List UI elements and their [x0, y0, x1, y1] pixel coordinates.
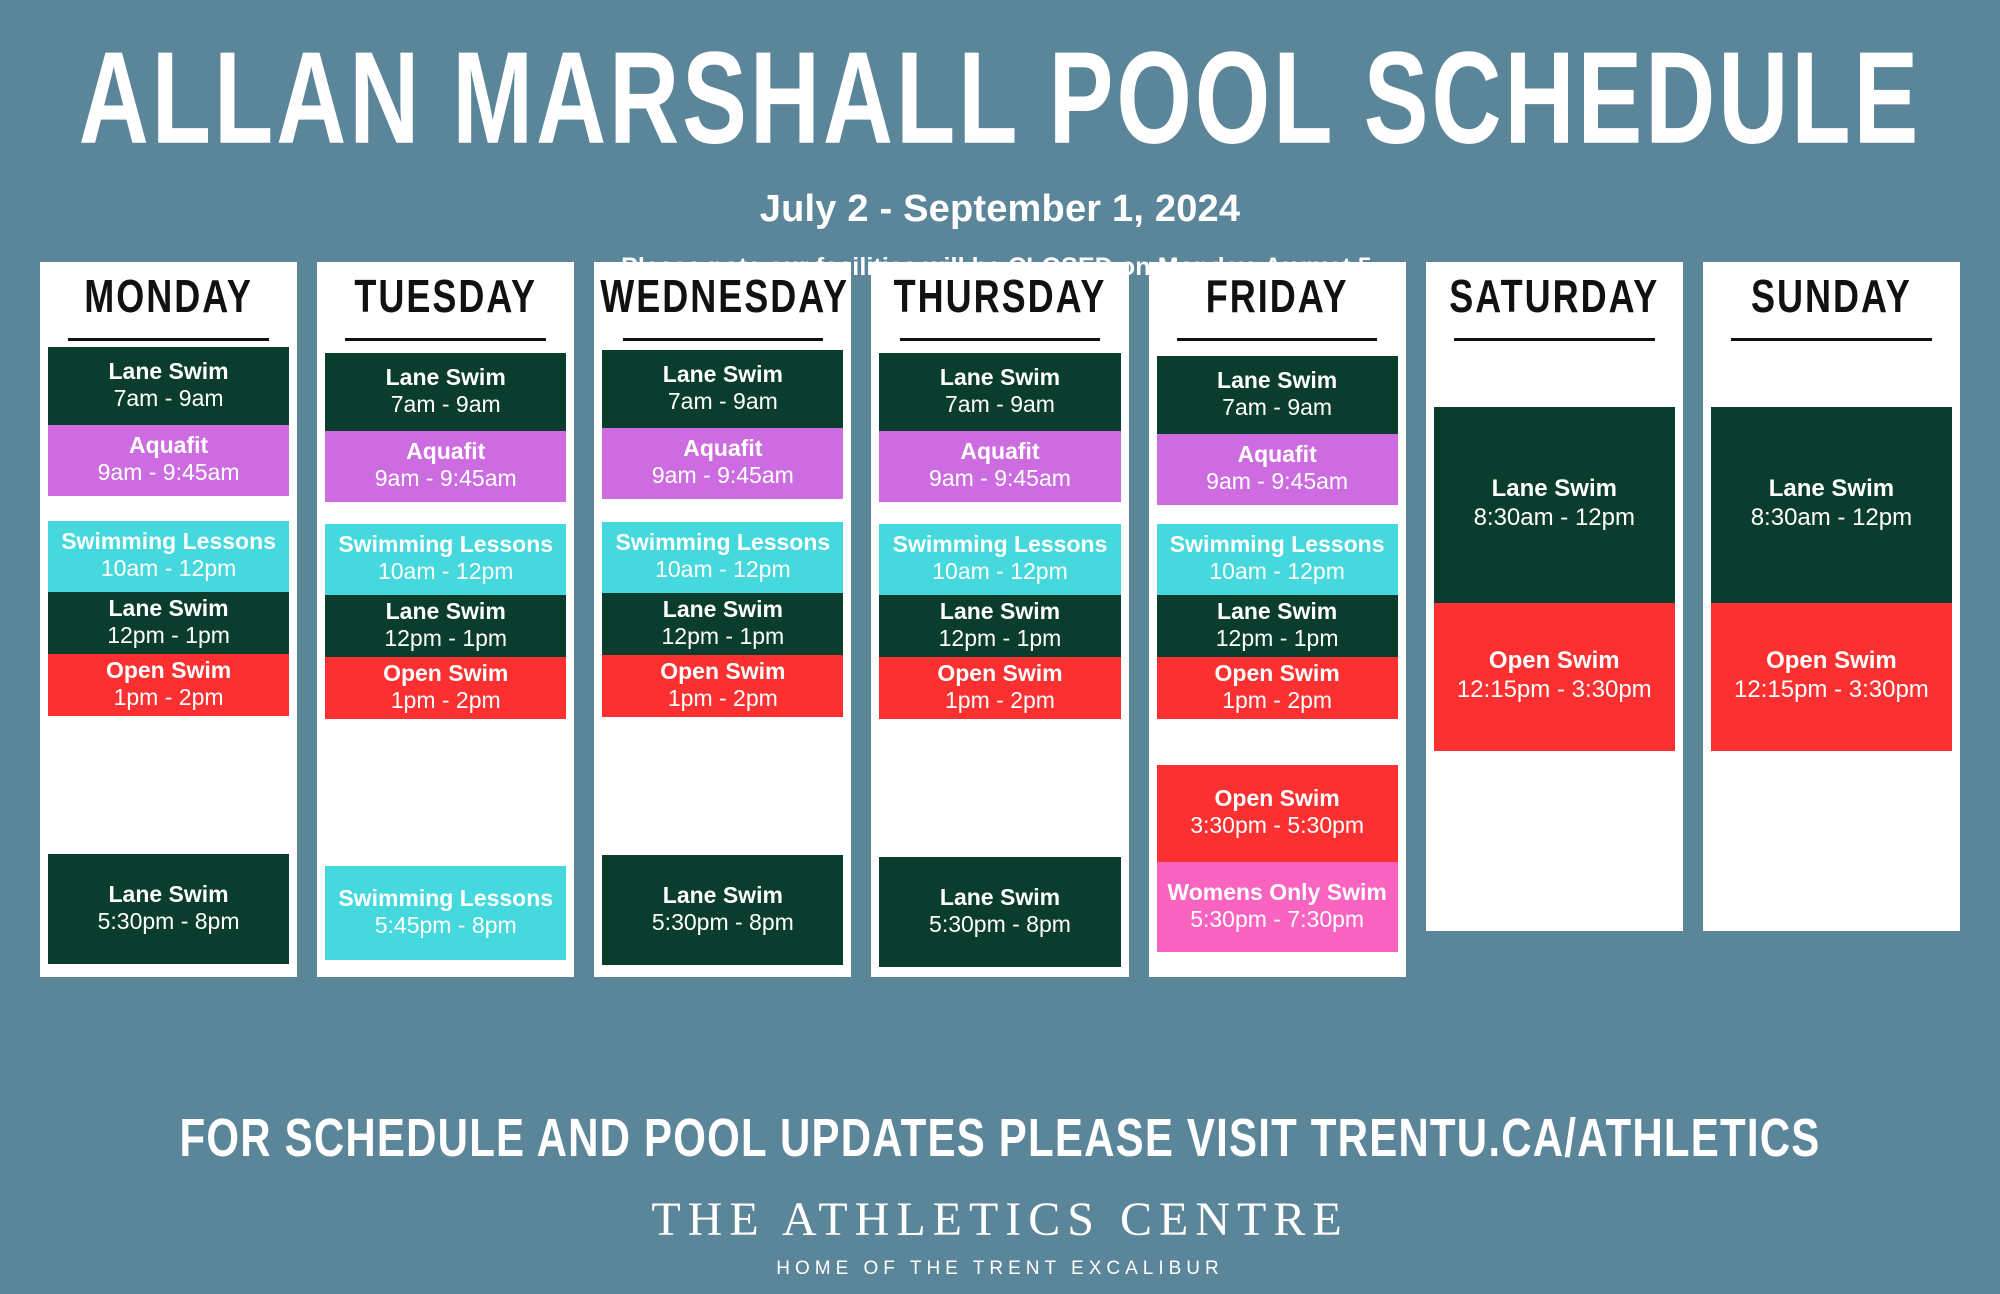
schedule-slot-lane_swim[interactable]: Lane Swim12pm - 1pm — [325, 595, 566, 657]
schedule-slot-lane_swim[interactable]: Lane Swim7am - 9am — [1157, 356, 1398, 434]
slot-time-label: 7am - 9am — [391, 391, 501, 419]
schedule-slot-lane_swim[interactable]: Lane Swim5:30pm - 8pm — [879, 857, 1120, 967]
slot-spacer — [48, 496, 289, 521]
slot-time-label: 9am - 9:45am — [1206, 468, 1348, 496]
footer-tagline: HOME OF THE TRENT EXCALIBUR — [0, 1258, 2000, 1280]
day-name-label: SATURDAY — [1443, 269, 1665, 329]
slot-time-label: 5:30pm - 8pm — [929, 911, 1071, 939]
schedule-slot-aquafit[interactable]: Aquafit9am - 9:45am — [602, 428, 843, 499]
slot-time-label: 12pm - 1pm — [661, 623, 784, 651]
day-column-sunday: SUNDAYLane Swim8:30am - 12pmOpen Swim12:… — [1703, 262, 1960, 931]
day-slot-list: Lane Swim7am - 9amAquafit9am - 9:45amSwi… — [594, 347, 851, 975]
schedule-slot-swimming_lessons[interactable]: Swimming Lessons10am - 12pm — [602, 522, 843, 593]
slot-activity-label: Aquafit — [683, 435, 762, 462]
slot-time-label: 12pm - 1pm — [1216, 625, 1339, 653]
schedule-slot-open_swim[interactable]: Open Swim3:30pm - 5:30pm — [1157, 765, 1398, 862]
slot-time-label: 7am - 9am — [668, 388, 778, 416]
slot-activity-label: Lane Swim — [1769, 475, 1894, 503]
slot-activity-label: Open Swim — [1766, 647, 1897, 675]
schedule-slot-lane_swim[interactable]: Lane Swim12pm - 1pm — [1157, 595, 1398, 657]
day-name-label: TUESDAY — [348, 269, 543, 329]
schedule-slot-open_swim[interactable]: Open Swim12:15pm - 3:30pm — [1711, 603, 1952, 751]
day-name-underline — [345, 338, 546, 341]
slot-activity-label: Open Swim — [660, 658, 785, 685]
slot-activity-label: Aquafit — [1238, 441, 1317, 468]
slot-activity-label: Swimming Lessons — [1170, 531, 1385, 558]
slot-activity-label: Lane Swim — [386, 364, 506, 391]
schedule-grid: MONDAYLane Swim7am - 9amAquafit9am - 9:4… — [40, 262, 1960, 977]
poster-header: ALLAN MARSHALL POOL SCHEDULE July 2 - Se… — [0, 0, 2000, 282]
schedule-slot-swimming_lessons[interactable]: Swimming Lessons5:45pm - 8pm — [325, 866, 566, 960]
slot-activity-label: Open Swim — [1215, 785, 1340, 812]
slot-spacer — [879, 502, 1120, 524]
day-name-label: THURSDAY — [888, 269, 1113, 329]
day-name-label: MONDAY — [78, 269, 259, 329]
slot-time-label: 7am - 9am — [114, 385, 224, 413]
slot-time-label: 9am - 9:45am — [929, 465, 1071, 493]
slot-activity-label: Lane Swim — [108, 595, 228, 622]
day-slot-list: Lane Swim7am - 9amAquafit9am - 9:45amSwi… — [1149, 347, 1406, 962]
slot-activity-label: Open Swim — [1489, 647, 1620, 675]
slot-time-label: 1pm - 2pm — [391, 687, 501, 715]
day-name-underline — [900, 338, 1101, 341]
schedule-slot-lane_swim[interactable]: Lane Swim12pm - 1pm — [879, 595, 1120, 657]
slot-time-label: 12:15pm - 3:30pm — [1457, 676, 1652, 705]
schedule-slot-lane_swim[interactable]: Lane Swim5:30pm - 8pm — [48, 854, 289, 964]
day-header: TUESDAY — [317, 262, 574, 347]
date-range: July 2 - September 1, 2024 — [0, 188, 2000, 231]
slot-time-label: 12pm - 1pm — [939, 625, 1062, 653]
slot-time-label: 8:30am - 12pm — [1474, 504, 1635, 533]
schedule-slot-swimming_lessons[interactable]: Swimming Lessons10am - 12pm — [879, 524, 1120, 595]
schedule-slot-lane_swim[interactable]: Lane Swim7am - 9am — [325, 353, 566, 431]
slot-spacer — [1711, 347, 1952, 407]
day-name-underline — [1731, 338, 1932, 341]
slot-spacer — [602, 717, 843, 855]
slot-activity-label: Lane Swim — [663, 596, 783, 623]
slot-spacer — [325, 719, 566, 866]
slot-time-label: 12pm - 1pm — [107, 622, 230, 650]
slot-activity-label: Open Swim — [1215, 660, 1340, 687]
slot-activity-label: Aquafit — [129, 432, 208, 459]
slot-activity-label: Open Swim — [106, 657, 231, 684]
slot-activity-label: Womens Only Swim — [1167, 879, 1386, 906]
slot-spacer — [1434, 347, 1675, 407]
slot-time-label: 7am - 9am — [1222, 394, 1332, 422]
slot-time-label: 1pm - 2pm — [668, 685, 778, 713]
slot-activity-label: Aquafit — [406, 438, 485, 465]
slot-time-label: 9am - 9:45am — [98, 459, 240, 487]
slot-time-label: 10am - 12pm — [655, 556, 791, 584]
slot-time-label: 12pm - 1pm — [384, 625, 507, 653]
slot-time-label: 5:30pm - 8pm — [98, 908, 240, 936]
day-column-wednesday: WEDNESDAYLane Swim7am - 9amAquafit9am - … — [594, 262, 851, 977]
slot-spacer — [1157, 347, 1398, 356]
slot-spacer — [602, 499, 843, 522]
slot-spacer — [1157, 505, 1398, 524]
schedule-slot-open_swim[interactable]: Open Swim12:15pm - 3:30pm — [1434, 603, 1675, 751]
day-column-saturday: SATURDAYLane Swim8:30am - 12pmOpen Swim1… — [1426, 262, 1683, 931]
schedule-slot-lane_swim[interactable]: Lane Swim12pm - 1pm — [48, 592, 289, 654]
schedule-slot-aquafit[interactable]: Aquafit9am - 9:45am — [325, 431, 566, 502]
day-slot-list: Lane Swim7am - 9amAquafit9am - 9:45amSwi… — [871, 347, 1128, 977]
day-column-friday: FRIDAYLane Swim7am - 9amAquafit9am - 9:4… — [1149, 262, 1406, 977]
slot-time-label: 3:30pm - 5:30pm — [1190, 812, 1364, 840]
day-slot-list: Lane Swim7am - 9amAquafit9am - 9:45amSwi… — [40, 347, 297, 974]
slot-spacer — [1157, 719, 1398, 765]
slot-activity-label: Swimming Lessons — [893, 531, 1108, 558]
slot-activity-label: Swimming Lessons — [338, 885, 553, 912]
slot-activity-label: Lane Swim — [108, 358, 228, 385]
slot-activity-label: Lane Swim — [1217, 598, 1337, 625]
day-column-thursday: THURSDAYLane Swim7am - 9amAquafit9am - 9… — [871, 262, 1128, 977]
slot-spacer — [48, 716, 289, 854]
slot-time-label: 5:30pm - 7:30pm — [1190, 906, 1364, 934]
slot-activity-label: Open Swim — [383, 660, 508, 687]
day-header: WEDNESDAY — [594, 262, 851, 347]
schedule-slot-swimming_lessons[interactable]: Swimming Lessons10am - 12pm — [48, 521, 289, 592]
day-column-monday: MONDAYLane Swim7am - 9amAquafit9am - 9:4… — [40, 262, 297, 977]
slot-activity-label: Lane Swim — [663, 882, 783, 909]
day-slot-list: Lane Swim7am - 9amAquafit9am - 9:45amSwi… — [317, 347, 574, 970]
schedule-slot-aquafit[interactable]: Aquafit9am - 9:45am — [48, 425, 289, 496]
day-name-label: WEDNESDAY — [594, 269, 855, 329]
slot-activity-label: Swimming Lessons — [61, 528, 276, 555]
pool-schedule-poster: ALLAN MARSHALL POOL SCHEDULE July 2 - Se… — [0, 0, 2000, 1294]
slot-spacer — [879, 719, 1120, 857]
schedule-slot-lane_swim[interactable]: Lane Swim8:30am - 12pm — [1711, 407, 1952, 603]
slot-time-label: 10am - 12pm — [378, 558, 514, 586]
day-slot-list: Lane Swim8:30am - 12pmOpen Swim12:15pm -… — [1703, 347, 1960, 761]
day-slot-list: Lane Swim8:30am - 12pmOpen Swim12:15pm -… — [1426, 347, 1683, 761]
slot-activity-label: Lane Swim — [940, 598, 1060, 625]
slot-activity-label: Lane Swim — [940, 364, 1060, 391]
slot-activity-label: Aquafit — [960, 438, 1039, 465]
slot-spacer — [325, 502, 566, 524]
day-name-underline — [1177, 338, 1378, 341]
day-header: FRIDAY — [1149, 262, 1406, 347]
schedule-slot-lane_swim[interactable]: Lane Swim7am - 9am — [879, 353, 1120, 431]
schedule-slot-lane_swim[interactable]: Lane Swim7am - 9am — [48, 347, 289, 425]
slot-time-label: 1pm - 2pm — [114, 684, 224, 712]
day-header: MONDAY — [40, 262, 297, 347]
poster-footer: FOR SCHEDULE AND POOL UPDATES PLEASE VIS… — [0, 1114, 2000, 1280]
slot-time-label: 5:30pm - 8pm — [652, 909, 794, 937]
slot-activity-label: Lane Swim — [663, 361, 783, 388]
schedule-slot-lane_swim[interactable]: Lane Swim5:30pm - 8pm — [602, 855, 843, 965]
schedule-slot-lane_swim[interactable]: Lane Swim8:30am - 12pm — [1434, 407, 1675, 603]
slot-time-label: 9am - 9:45am — [375, 465, 517, 493]
schedule-slot-open_swim[interactable]: Open Swim1pm - 2pm — [325, 657, 566, 719]
schedule-slot-open_swim[interactable]: Open Swim1pm - 2pm — [1157, 657, 1398, 719]
slot-activity-label: Lane Swim — [386, 598, 506, 625]
schedule-slot-swimming_lessons[interactable]: Swimming Lessons10am - 12pm — [325, 524, 566, 595]
slot-time-label: 1pm - 2pm — [945, 687, 1055, 715]
page-title: ALLAN MARSHALL POOL SCHEDULE — [0, 32, 2000, 166]
day-name-label: SUNDAY — [1745, 269, 1918, 329]
slot-time-label: 10am - 12pm — [101, 555, 237, 583]
schedule-slot-lane_swim[interactable]: Lane Swim7am - 9am — [602, 350, 843, 428]
schedule-slot-aquafit[interactable]: Aquafit9am - 9:45am — [1157, 434, 1398, 505]
day-name-underline — [623, 338, 824, 341]
day-column-tuesday: TUESDAYLane Swim7am - 9amAquafit9am - 9:… — [317, 262, 574, 977]
schedule-slot-aquafit[interactable]: Aquafit9am - 9:45am — [879, 431, 1120, 502]
slot-time-label: 12:15pm - 3:30pm — [1734, 676, 1929, 705]
slot-time-label: 10am - 12pm — [1209, 558, 1345, 586]
slot-time-label: 1pm - 2pm — [1222, 687, 1332, 715]
slot-time-label: 5:45pm - 8pm — [375, 912, 517, 940]
slot-activity-label: Swimming Lessons — [615, 529, 830, 556]
slot-activity-label: Lane Swim — [940, 884, 1060, 911]
day-name-label: FRIDAY — [1200, 269, 1355, 329]
slot-time-label: 10am - 12pm — [932, 558, 1068, 586]
slot-activity-label: Lane Swim — [1492, 475, 1617, 503]
day-header: SUNDAY — [1703, 262, 1960, 347]
schedule-slot-womens_only[interactable]: Womens Only Swim5:30pm - 7:30pm — [1157, 862, 1398, 952]
slot-activity-label: Lane Swim — [1217, 367, 1337, 394]
slot-time-label: 7am - 9am — [945, 391, 1055, 419]
footer-cta: FOR SCHEDULE AND POOL UPDATES PLEASE VIS… — [180, 1107, 1821, 1168]
schedule-slot-open_swim[interactable]: Open Swim1pm - 2pm — [879, 657, 1120, 719]
slot-activity-label: Swimming Lessons — [338, 531, 553, 558]
day-name-underline — [68, 338, 269, 341]
day-name-underline — [1454, 338, 1655, 341]
slot-time-label: 9am - 9:45am — [652, 462, 794, 490]
schedule-slot-swimming_lessons[interactable]: Swimming Lessons10am - 12pm — [1157, 524, 1398, 595]
schedule-slot-lane_swim[interactable]: Lane Swim12pm - 1pm — [602, 593, 843, 655]
day-header: SATURDAY — [1426, 262, 1683, 347]
slot-activity-label: Lane Swim — [108, 881, 228, 908]
schedule-slot-open_swim[interactable]: Open Swim1pm - 2pm — [48, 654, 289, 716]
slot-activity-label: Open Swim — [937, 660, 1062, 687]
day-header: THURSDAY — [871, 262, 1128, 347]
slot-time-label: 8:30am - 12pm — [1751, 504, 1912, 533]
schedule-slot-open_swim[interactable]: Open Swim1pm - 2pm — [602, 655, 843, 717]
footer-brand: THE ATHLETICS CENTRE — [0, 1192, 2000, 1247]
